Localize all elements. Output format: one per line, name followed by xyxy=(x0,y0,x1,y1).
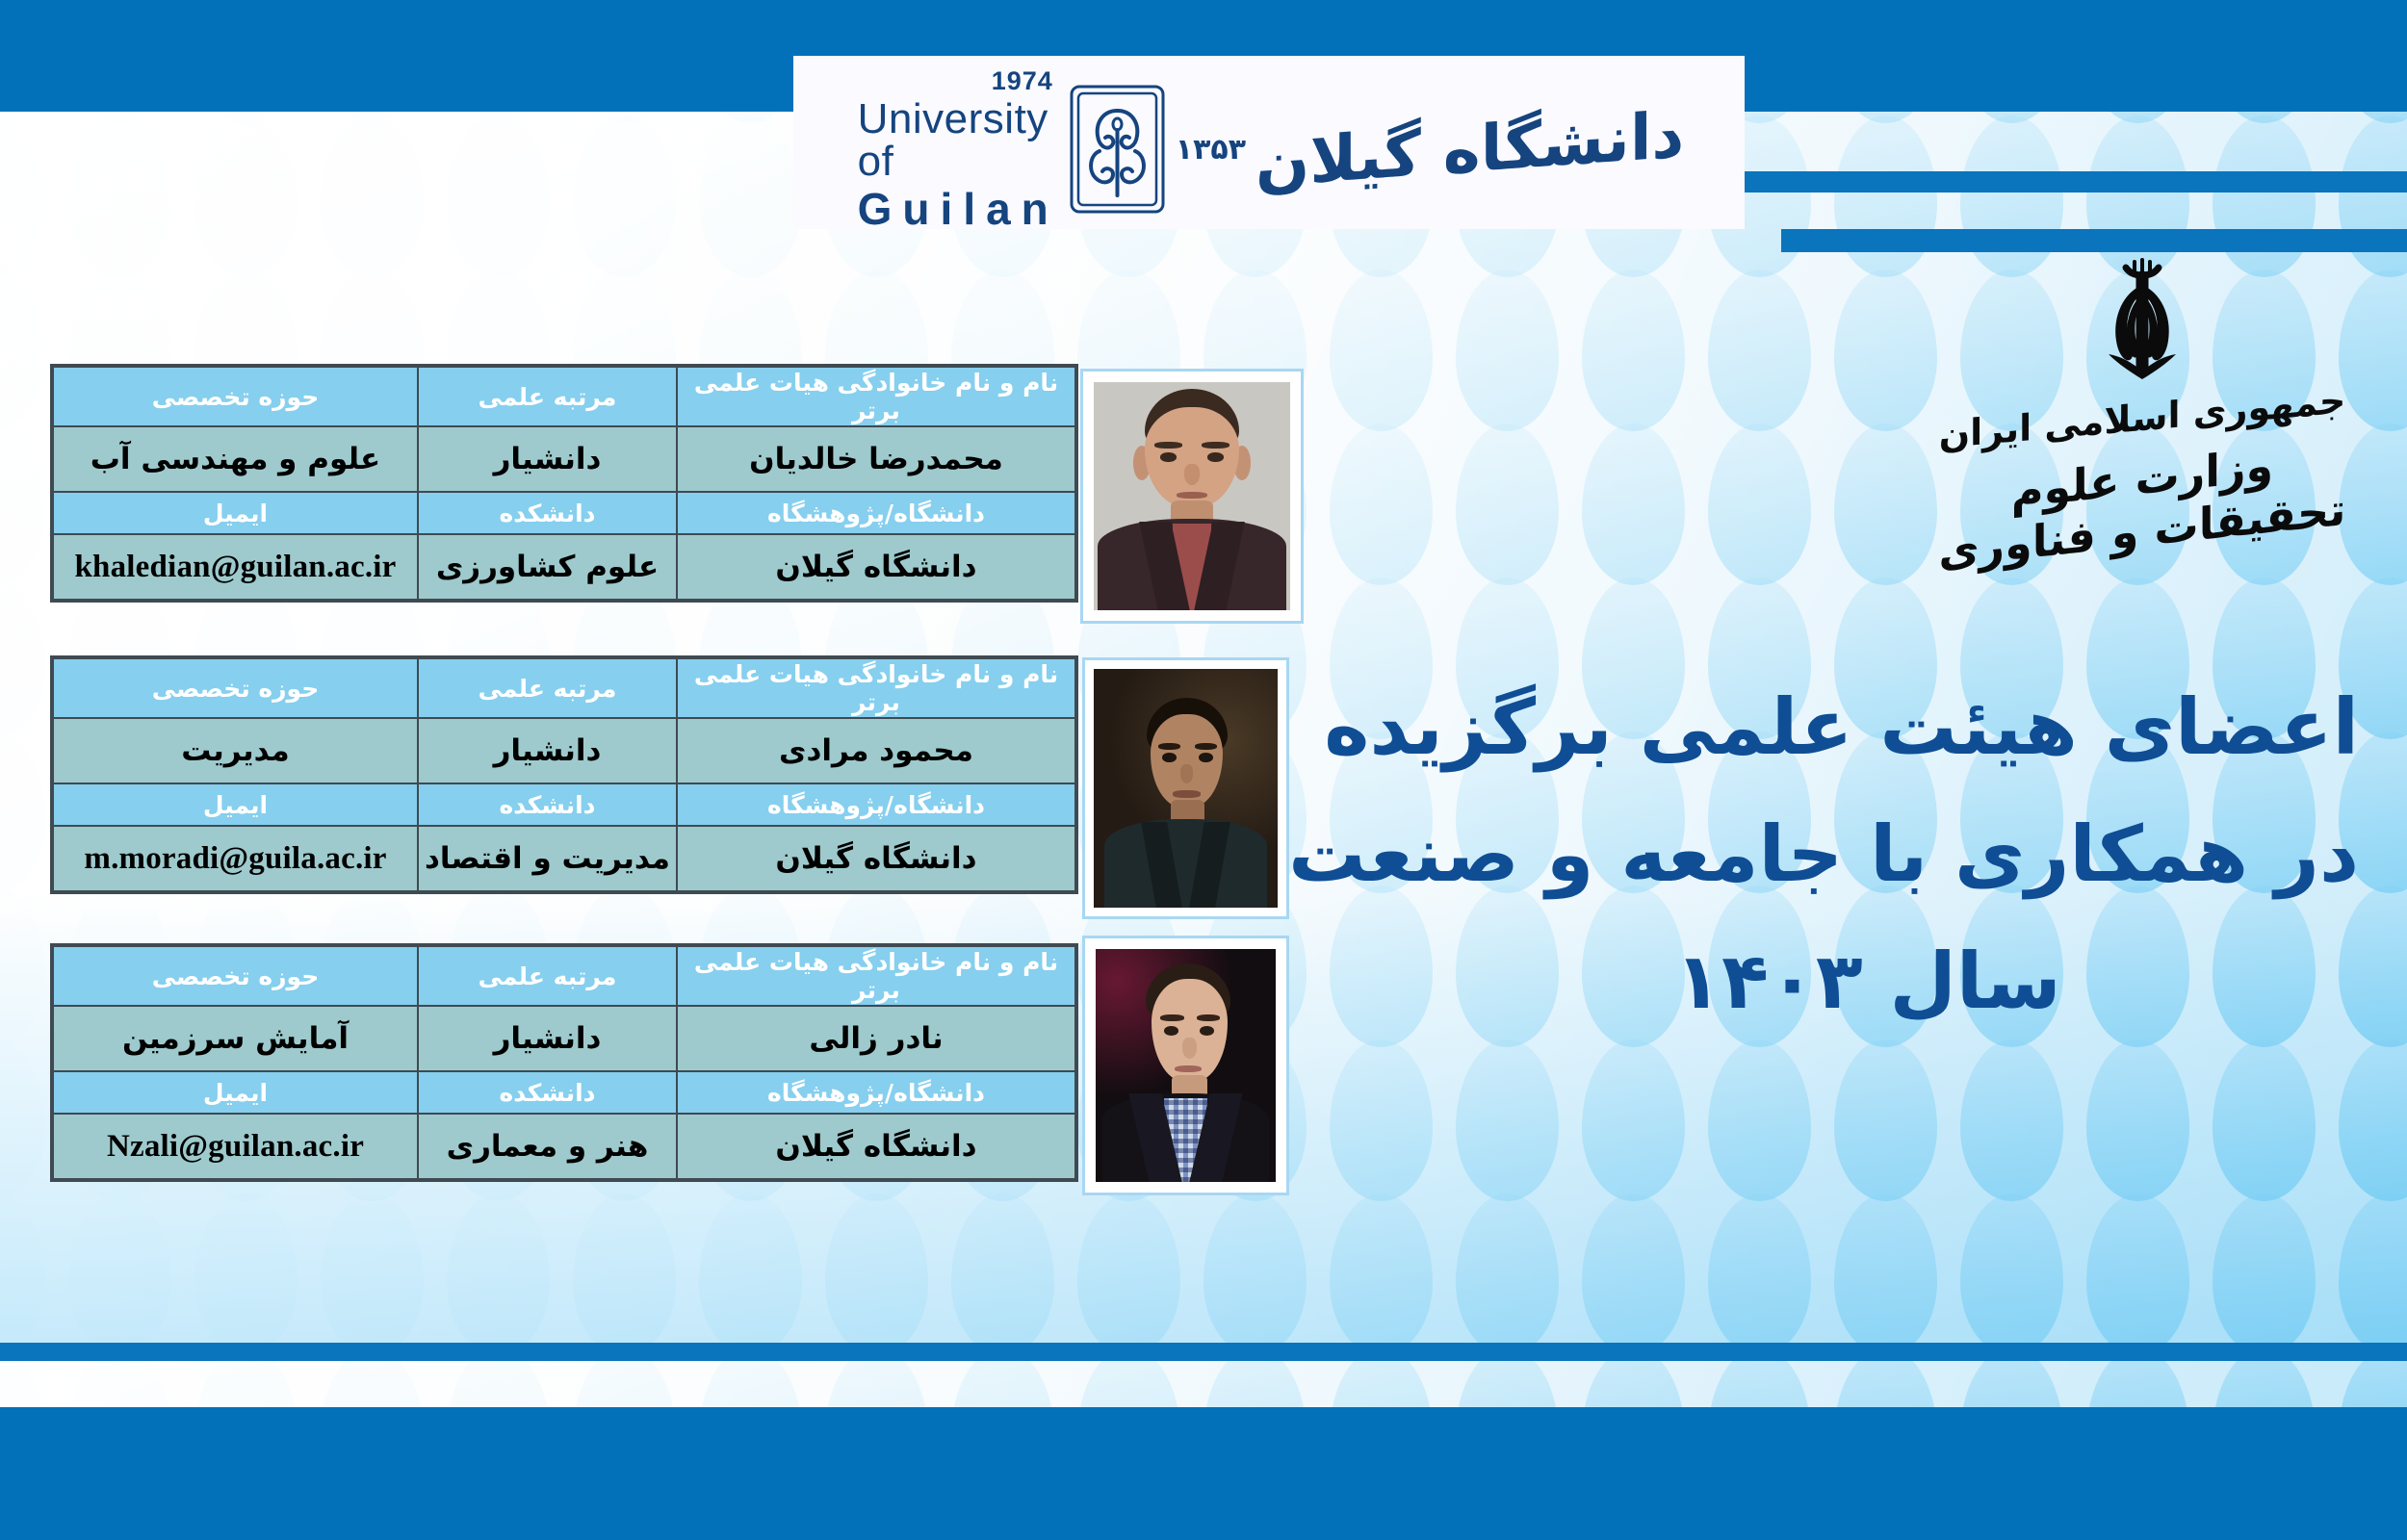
header-name-1: نام و نام خانوادگی هیات علمی برتر xyxy=(677,367,1075,426)
header-rank-2: مرتبه علمی xyxy=(418,658,677,718)
iran-emblem-icon xyxy=(2070,252,2214,387)
header-field-1: حوزه تخصصی xyxy=(53,367,418,426)
value-faculty-3: هنر و معماری xyxy=(418,1114,677,1179)
table-row: نادر زالی دانشیار آمایش سرزمین xyxy=(53,1006,1075,1071)
university-logo-line2: Guilan xyxy=(858,187,1059,231)
value-rank-1: دانشیار xyxy=(418,426,677,492)
decorative-bar-upper xyxy=(1745,171,2407,192)
university-name-persian: دانشگاه گیلان xyxy=(1255,97,1684,201)
member-photo-2-image xyxy=(1094,669,1278,908)
value-rank-2: دانشیار xyxy=(418,718,677,783)
university-founded-year-persian: ۱۳۵۳ xyxy=(1176,133,1246,167)
member-photo-1-image xyxy=(1094,382,1290,610)
member-photo-1 xyxy=(1080,369,1304,624)
value-faculty-1: علوم کشاورزی xyxy=(418,534,677,600)
header-institution-2: دانشگاه/پژوهشگاه xyxy=(677,783,1075,826)
member-table-2: نام و نام خانوادگی هیات علمی برتر مرتبه … xyxy=(52,657,1076,892)
table-row: دانشگاه گیلان مدیریت و اقتصاد m.moradi@g… xyxy=(53,826,1075,891)
value-name-3: نادر زالی xyxy=(677,1006,1075,1071)
header-name-3: نام و نام خانوادگی هیات علمی برتر xyxy=(677,946,1075,1006)
university-emblem-icon xyxy=(1067,82,1168,217)
top-bar-middle xyxy=(805,0,1745,58)
ministry-block: جمهوری اسلامی ایران وزارت علوم تحقیقات و… xyxy=(1916,252,2368,556)
value-institution-3: دانشگاه گیلان xyxy=(677,1114,1075,1179)
value-rank-3: دانشیار xyxy=(418,1006,677,1071)
table-row: نام و نام خانوادگی هیات علمی برتر مرتبه … xyxy=(53,367,1075,426)
header-faculty-1: دانشکده xyxy=(418,492,677,534)
top-bar-left xyxy=(0,0,805,112)
university-logo-persian: ۱۳۵۳ دانشگاه گیلان xyxy=(1176,113,1685,187)
value-email-2[interactable]: m.moradi@guila.ac.ir xyxy=(53,826,418,891)
top-bar-right xyxy=(1745,0,2407,112)
decorative-bar-lower xyxy=(1781,229,2407,252)
table-row: دانشگاه گیلان هنر و معماری Nzali@guilan.… xyxy=(53,1114,1075,1179)
header-field-3: حوزه تخصصی xyxy=(53,946,418,1006)
header-name-2: نام و نام خانوادگی هیات علمی برتر xyxy=(677,658,1075,718)
poster-title-line-1: اعضای هیئت علمی برگزیده xyxy=(1377,664,2359,791)
poster-title-line-2: در همکاری با جامعه و صنعت xyxy=(1377,791,2359,918)
poster-canvas: 1974 University of Guilan ۱۳۵۳ دانشگاه گ… xyxy=(0,0,2407,1540)
value-institution-1: دانشگاه گیلان xyxy=(677,534,1075,600)
value-name-2: محمود مرادی xyxy=(677,718,1075,783)
university-founded-year-latin: 1974 xyxy=(992,68,1053,94)
member-photo-2 xyxy=(1082,657,1289,919)
value-email-3[interactable]: Nzali@guilan.ac.ir xyxy=(53,1114,418,1179)
poster-title-line-3: سال ۱۴۰۳ xyxy=(1377,918,2359,1045)
header-field-2: حوزه تخصصی xyxy=(53,658,418,718)
value-field-1: علوم و مهندسی آب xyxy=(53,426,418,492)
header-institution-3: دانشگاه/پژوهشگاه xyxy=(677,1071,1075,1114)
header-rank-1: مرتبه علمی xyxy=(418,367,677,426)
bottom-bar-thin xyxy=(0,1343,2407,1361)
member-table-1: نام و نام خانوادگی هیات علمی برتر مرتبه … xyxy=(52,366,1076,601)
value-institution-2: دانشگاه گیلان xyxy=(677,826,1075,891)
header-rank-3: مرتبه علمی xyxy=(418,946,677,1006)
university-logo-latin: 1974 University of Guilan xyxy=(858,68,1059,231)
table-row: محمدرضا خالدیان دانشیار علوم و مهندسی آب xyxy=(53,426,1075,492)
value-field-2: مدیریت xyxy=(53,718,418,783)
member-photo-3-image xyxy=(1096,949,1276,1182)
table-row: دانشگاه/پژوهشگاه دانشکده ایمیل xyxy=(53,783,1075,826)
value-email-1[interactable]: khaledian@guilan.ac.ir xyxy=(53,534,418,600)
table-row: محمود مرادی دانشیار مدیریت xyxy=(53,718,1075,783)
header-email-3: ایمیل xyxy=(53,1071,418,1114)
table-row: دانشگاه/پژوهشگاه دانشکده ایمیل xyxy=(53,1071,1075,1114)
poster-title: اعضای هیئت علمی برگزیده در همکاری با جام… xyxy=(1377,664,2359,1045)
table-row: نام و نام خانوادگی هیات علمی برتر مرتبه … xyxy=(53,658,1075,718)
table-row: دانشگاه گیلان علوم کشاورزی khaledian@gui… xyxy=(53,534,1075,600)
header-faculty-2: دانشکده xyxy=(418,783,677,826)
university-logo-line1: University of xyxy=(858,98,1059,183)
header-email-1: ایمیل xyxy=(53,492,418,534)
university-logo: 1974 University of Guilan ۱۳۵۳ دانشگاه گ… xyxy=(867,77,1675,221)
header-institution-1: دانشگاه/پژوهشگاه xyxy=(677,492,1075,534)
table-row: نام و نام خانوادگی هیات علمی برتر مرتبه … xyxy=(53,946,1075,1006)
value-name-1: محمدرضا خالدیان xyxy=(677,426,1075,492)
member-table-3: نام و نام خانوادگی هیات علمی برتر مرتبه … xyxy=(52,945,1076,1180)
bottom-bar-thick xyxy=(0,1407,2407,1540)
value-field-3: آمایش سرزمین xyxy=(53,1006,418,1071)
header-email-2: ایمیل xyxy=(53,783,418,826)
table-row: دانشگاه/پژوهشگاه دانشکده ایمیل xyxy=(53,492,1075,534)
member-photo-3 xyxy=(1082,936,1289,1195)
header-faculty-3: دانشکده xyxy=(418,1071,677,1114)
value-faculty-2: مدیریت و اقتصاد xyxy=(418,826,677,891)
